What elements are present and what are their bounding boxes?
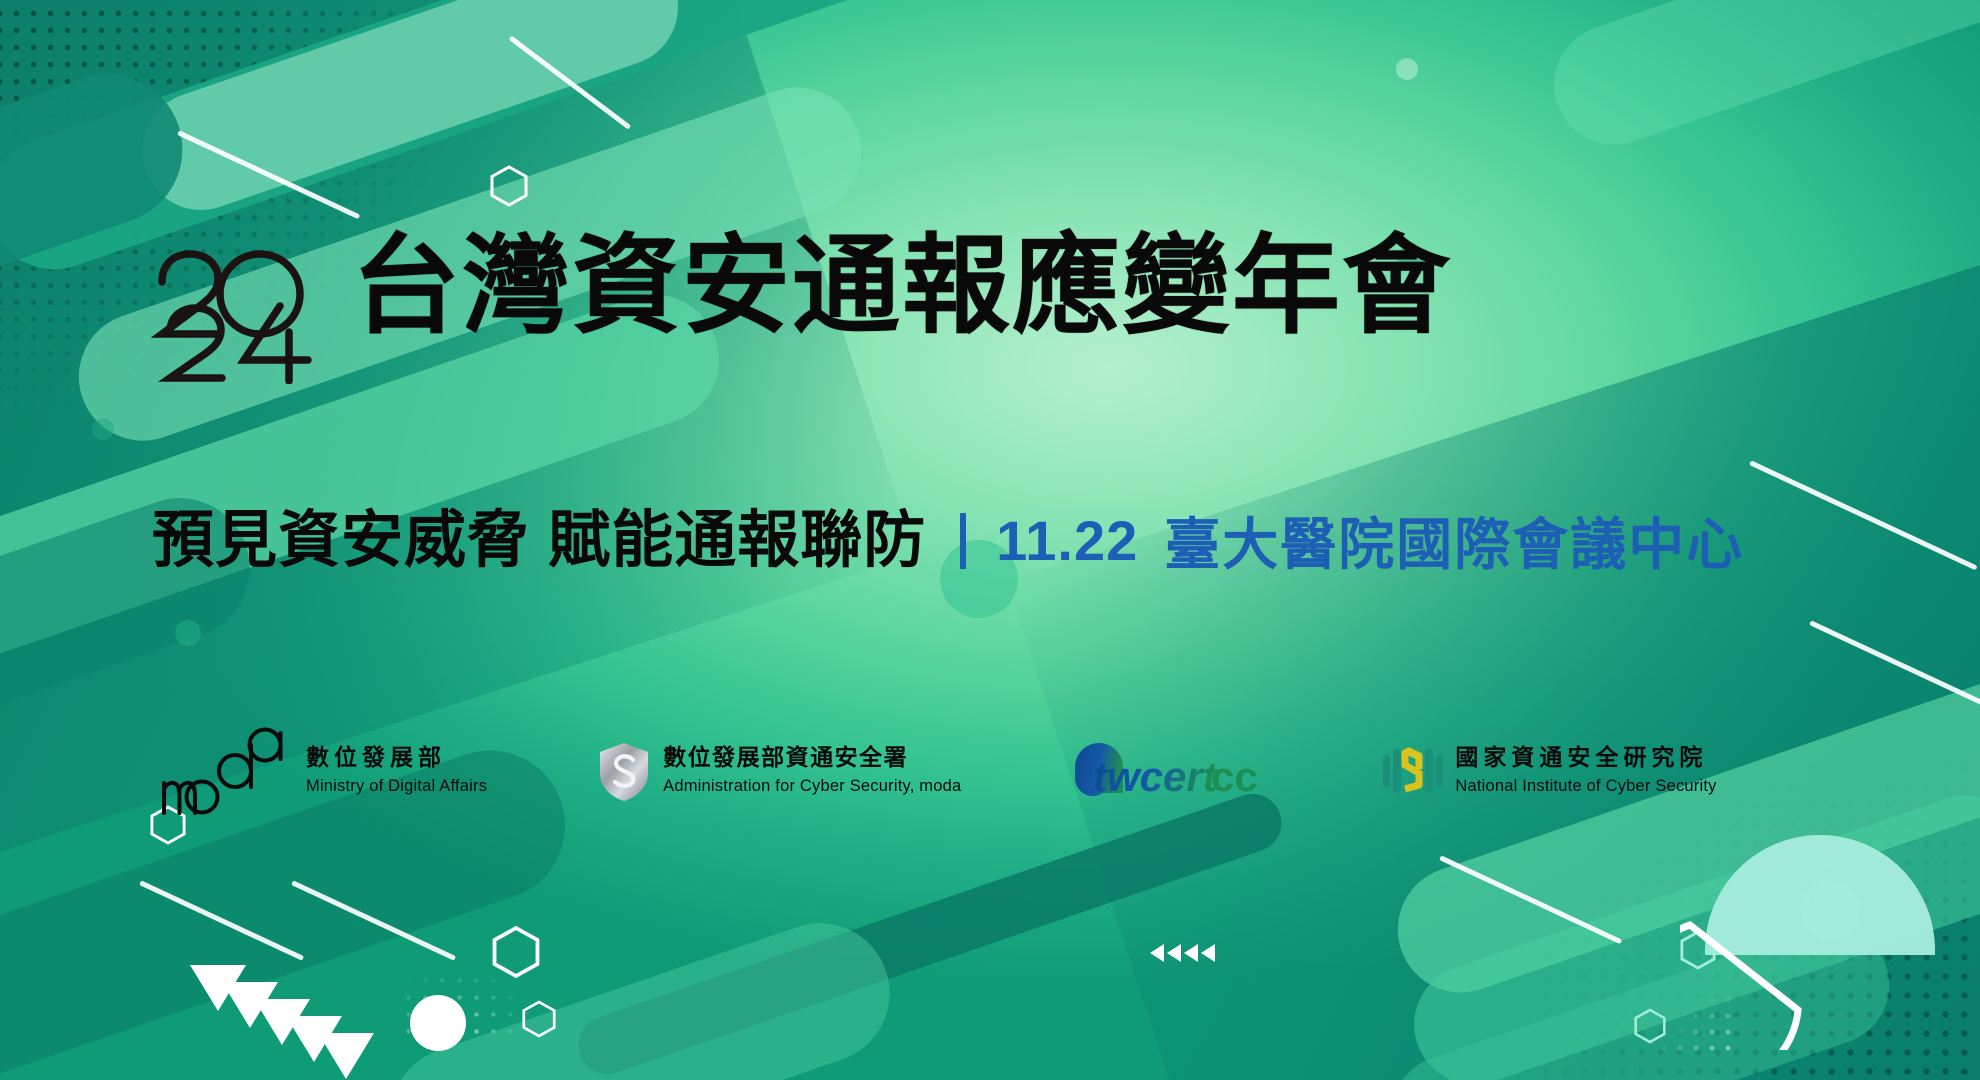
shield-s-logo-icon <box>597 741 649 799</box>
svg-text:twcert: twcert <box>1093 753 1219 800</box>
banner-subtitle: 預見資安威脅 賦能通報聯防 <box>152 510 926 572</box>
sponsor-moda: 數位發展部 Ministry of Digital Affairs <box>160 705 487 835</box>
acs-text-block: 數位發展部資通安全署 Administration for Cyber Secu… <box>663 743 961 797</box>
banner-content: 台灣資安通報應變年會 預見資安威脅 賦能通報聯防 11.22 臺大醫院國際會議中… <box>0 0 1980 1080</box>
sponsor-acs: 數位發展部資通安全署 Administration for Cyber Secu… <box>597 705 961 835</box>
event-venue: 臺大醫院國際會議中心 <box>1164 500 1744 581</box>
nics-monogram-logo-icon <box>1381 739 1441 801</box>
moda-text-block: 數位發展部 Ministry of Digital Affairs <box>306 743 487 797</box>
twcertcc-logo-icon: twcert cc <box>1071 739 1281 801</box>
title-row: 台灣資安通報應變年會 <box>148 232 1452 381</box>
event-date: 11.22 <box>996 508 1138 573</box>
nics-text-block: 國家資通安全研究院 National Institute of Cyber Se… <box>1455 743 1716 797</box>
event-banner: 台灣資安通報應變年會 預見資安威脅 賦能通報聯防 11.22 臺大醫院國際會議中… <box>0 0 1980 1080</box>
subtitle-row: 預見資安威脅 賦能通報聯防 11.22 臺大醫院國際會議中心 <box>152 500 1744 581</box>
svg-text:cc: cc <box>1211 753 1258 800</box>
vertical-divider <box>960 513 966 569</box>
sponsor-twcertcc: twcert cc <box>1071 705 1281 835</box>
sponsor-name-en: Administration for Cyber Security, moda <box>663 776 961 797</box>
sponsor-name-zh: 國家資通安全研究院 <box>1455 743 1716 772</box>
sponsor-name-en: National Institute of Cyber Security <box>1455 776 1716 797</box>
moda-wordmark-logo-icon <box>160 725 292 815</box>
year-2024-logo <box>148 236 338 381</box>
sponsor-name-zh: 數位發展部資通安全署 <box>663 743 961 772</box>
sponsor-logo-strip: 數位發展部 Ministry of Digital Affairs <box>140 705 1860 835</box>
sponsor-name-zh: 數位發展部 <box>306 743 487 772</box>
page-title: 台灣資安通報應變年會 <box>352 232 1452 340</box>
sponsor-name-en: Ministry of Digital Affairs <box>306 776 487 797</box>
sponsor-nics: 國家資通安全研究院 National Institute of Cyber Se… <box>1381 705 1716 835</box>
